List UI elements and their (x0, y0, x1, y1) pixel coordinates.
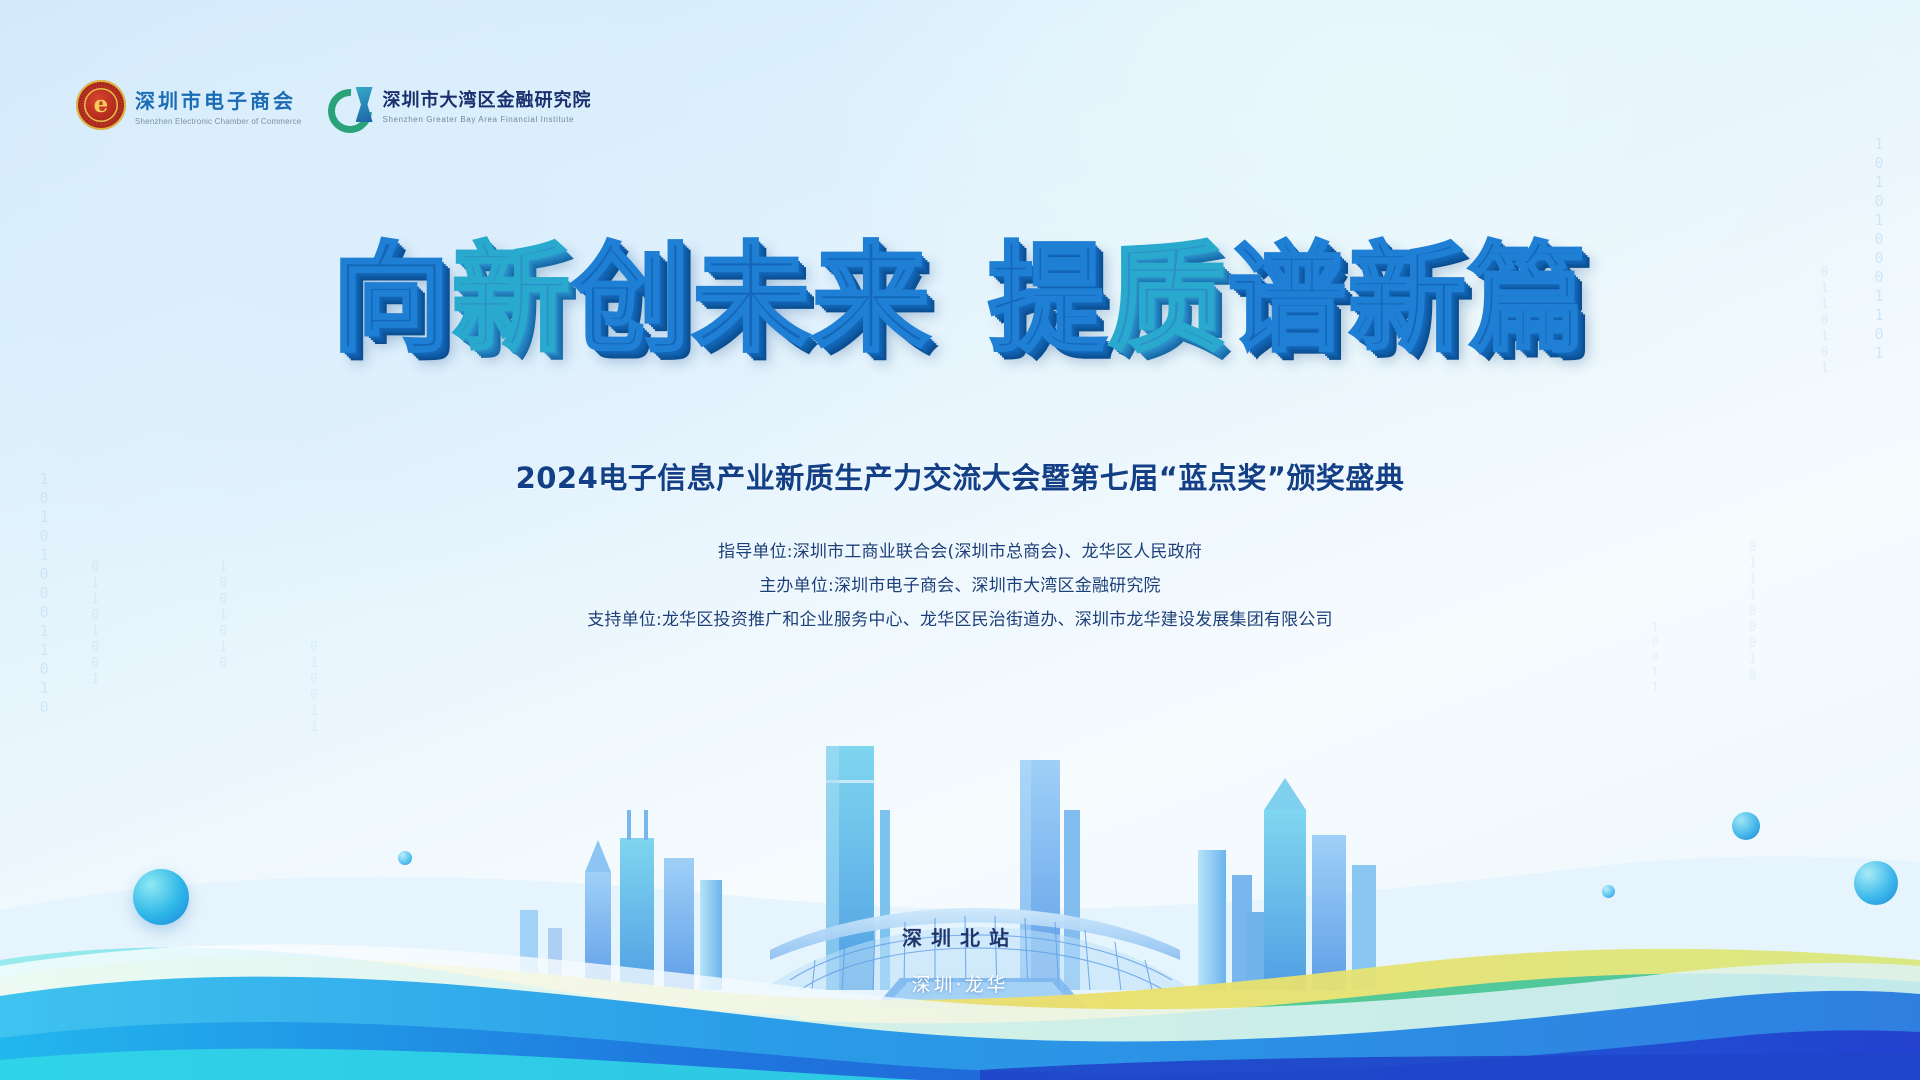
logo-name-en: Shenzhen Greater Bay Area Financial Inst… (383, 115, 592, 124)
decorative-orb-small-right (1602, 885, 1615, 898)
decorative-orb-large-left (133, 869, 189, 925)
title-char-9: 新 (1348, 240, 1468, 358)
title-char-1: 向 (332, 240, 452, 358)
logo-name-cn: 深圳市大湾区金融研究院 (383, 86, 592, 112)
logo-text-block: 深圳市电子商会 Shenzhen Electronic Chamber of C… (135, 85, 302, 126)
landmark-label: 深圳北站 (902, 922, 1018, 951)
main-title: 向新创未来提质谱新篇 (0, 240, 1920, 358)
decorative-orb-small-left (398, 851, 412, 865)
decorative-orb-medium-right (1732, 812, 1760, 840)
logo-name-cn: 深圳市电子商会 (135, 85, 302, 114)
logo-text-block: 深圳市大湾区金融研究院 Shenzhen Greater Bay Area Fi… (383, 86, 592, 124)
title-line: 向新创未来提质谱新篇 (332, 240, 1588, 358)
title-char-3: 创 (572, 240, 692, 358)
event-subtitle: 2024电子信息产业新质生产力交流大会暨第七届“蓝点奖”颁奖盛典 (0, 455, 1920, 497)
organizer-line-host: 主办单位:深圳市电子商会、深圳市大湾区金融研究院 (0, 569, 1920, 603)
gbi-monogram-icon (328, 85, 374, 125)
title-char-7-highlight: 质 (1108, 240, 1228, 358)
logo-bar: e 深圳市电子商会 Shenzhen Electronic Chamber of… (76, 80, 592, 130)
decorative-orb-edge-right (1854, 861, 1898, 905)
title-char-6: 提 (988, 240, 1108, 358)
organizer-list: 指导单位:深圳市工商业联合会(深圳市总商会)、龙华区人民政府 主办单位:深圳市电… (0, 535, 1920, 637)
scenery-svg (0, 660, 1920, 1080)
chamber-seal-icon: e (76, 80, 126, 130)
title-char-8: 谱 (1228, 240, 1348, 358)
place-label: 深圳·龙华 (911, 970, 1008, 997)
logo-shenzhen-greater-bay-area-financial-institute: 深圳市大湾区金融研究院 Shenzhen Greater Bay Area Fi… (328, 85, 592, 125)
title-char-2-highlight: 新 (452, 240, 572, 358)
seal-letter: e (94, 93, 109, 116)
logo-name-en: Shenzhen Electronic Chamber of Commerce (135, 117, 302, 126)
title-char-10: 篇 (1468, 240, 1588, 358)
title-char-5: 来 (812, 240, 932, 358)
poster-canvas: 1010100011010 01101001 1001010 010011 10… (0, 0, 1920, 1080)
organizer-line-guidance: 指导单位:深圳市工商业联合会(深圳市总商会)、龙华区人民政府 (0, 535, 1920, 569)
title-char-4: 未 (692, 240, 812, 358)
logo-shenzhen-electronic-chamber-of-commerce: e 深圳市电子商会 Shenzhen Electronic Chamber of… (76, 80, 302, 130)
organizer-line-support: 支持单位:龙华区投资推广和企业服务中心、龙华区民治街道办、深圳市龙华建设发展集团… (0, 603, 1920, 637)
city-scenery: 深圳北站 深圳·龙华 (0, 660, 1920, 1080)
